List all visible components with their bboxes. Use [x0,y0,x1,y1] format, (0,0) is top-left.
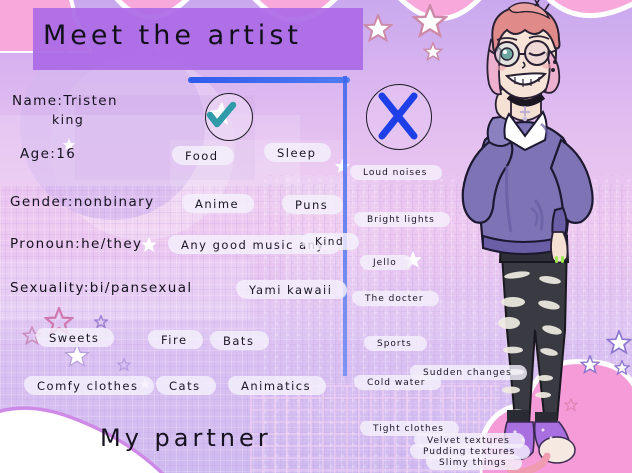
dislike-item-loud-noises: Loud noises [354,166,436,180]
moon-cutout [20,35,205,220]
like-item-animatics: Animatics [232,377,320,395]
star-icon [363,14,393,44]
like-item-yami-kawaii: Yami kawaii [240,281,341,299]
dislike-item-jello: Jello [364,256,406,270]
dislike-item-cold-water: Cold water [358,376,435,390]
dislike-item-the-docter: The docter [356,292,433,306]
blue-vertical-divider [343,76,347,376]
star-icon [117,358,131,372]
footer-title: My partner [100,424,272,452]
like-item-anime: Anime [186,195,248,213]
like-item-kind: Kind [306,234,353,250]
like-item-cats: Cats [160,377,210,395]
star-icon [412,4,448,40]
dislike-item-bright-lights: Bright lights [358,213,444,227]
likes-header-circle [205,93,253,141]
profile-name-second: king [52,112,84,127]
like-item-fire: Fire [152,331,197,349]
blue-underline [188,77,350,83]
like-item-puns: Puns [286,196,337,214]
like-item-sleep: Sleep [268,144,325,162]
star-icon [423,42,443,62]
star-icon [94,315,108,329]
dislike-item-slimy-things: Slimy things [430,456,516,470]
dislikes-header-circle [366,84,432,150]
profile-sexuality: Sexuality:bi/pansexual [10,280,193,296]
star-icon [334,158,351,175]
character-illustration [449,0,632,473]
dislike-item-sports: Sports [368,337,421,351]
like-item-food: Food [176,147,228,165]
page-title: Meet the artist [43,20,363,51]
like-item-comfy-clothes: Comfy clothes [28,377,148,395]
profile-gender: Gender:nonbinary [10,194,155,210]
profile-age: Age:16 [20,146,76,162]
star-icon [140,236,158,254]
star-icon [57,50,75,68]
meet-the-artist-canvas: Meet the artist Name:Tristen king Age:16… [0,0,632,473]
like-item-sweets: Sweets [40,329,108,347]
profile-pronoun: Pronoun:he/they [10,236,142,252]
like-item-bats: Bats [214,332,263,350]
profile-name: Name:Tristen [12,93,118,109]
